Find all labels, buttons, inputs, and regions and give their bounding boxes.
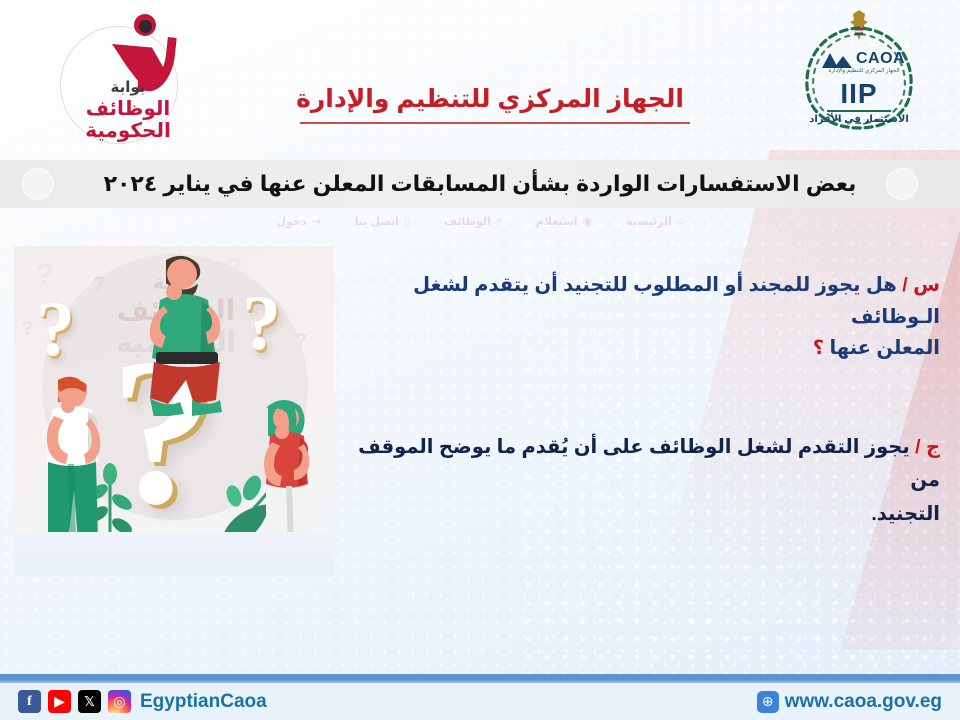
nav-watermark-label-jobs: الوظائف bbox=[444, 215, 491, 228]
answer-prefix: ج / bbox=[915, 436, 940, 458]
globe-icon: ⊕ bbox=[757, 691, 779, 713]
question-line-1: س / هل يجوز للمجند أو المطلوب للتجنيد أن… bbox=[330, 270, 940, 333]
iip-acronym: IIP bbox=[794, 78, 924, 110]
iip-arabic-subtitle: الاستثمار في الأفراد bbox=[794, 114, 924, 125]
page-title-underline bbox=[300, 122, 690, 124]
question-prefix: س / bbox=[902, 274, 940, 296]
caoa-arabic-subtitle: الجهاز المركزي للتنظيم والإدارة bbox=[814, 68, 914, 74]
white-question-mark-right: ? bbox=[242, 278, 281, 368]
website-url[interactable]: www.caoa.gov.eg bbox=[785, 691, 942, 713]
question-text-1: هل يجوز للمجند أو المطلوب للتجنيد أن يتق… bbox=[413, 274, 940, 328]
nav-watermark-item-home: ⌂ الرئيسية bbox=[626, 215, 683, 228]
facebook-icon[interactable]: f bbox=[18, 690, 41, 713]
question-line-2: المعلن عنها ؟ bbox=[330, 333, 940, 365]
nav-watermark-item-contact: ▯ اتصل بنا bbox=[355, 215, 410, 228]
footer-divider bbox=[0, 674, 960, 683]
answer-line-2: التجنيد. bbox=[330, 498, 940, 532]
banner: بعض الاستفسارات الواردة بشأن المسابقات ا… bbox=[0, 160, 960, 208]
info-icon: ◉ bbox=[583, 215, 593, 228]
person-thinking-left bbox=[28, 370, 116, 551]
person-sitting-on-question-mark bbox=[124, 248, 244, 421]
home-icon: ⌂ bbox=[677, 215, 684, 227]
question-mark-glyph: ؟ bbox=[813, 337, 824, 359]
decorative-question-mark: ? bbox=[22, 318, 33, 339]
decorative-question-mark: ? bbox=[92, 272, 105, 298]
decorative-question-mark: ? bbox=[296, 330, 307, 351]
banner-watermark-left bbox=[22, 168, 54, 200]
illustration-floor bbox=[14, 532, 334, 576]
pyramid-mountains-icon bbox=[820, 50, 854, 68]
login-icon: ⇥ bbox=[311, 215, 320, 228]
nav-watermark-label-login: دخول bbox=[276, 215, 306, 228]
search-icon: ⌕ bbox=[496, 215, 502, 228]
answer-block: ج / يجوز التقدم لشغل الوظائف على أن يُقد… bbox=[330, 431, 940, 532]
qa-section: س / هل يجوز للمجند أو المطلوب للتجنيد أن… bbox=[330, 270, 940, 531]
answer-text-1: يجوز التقدم لشغل الوظائف على أن يُقدم ما… bbox=[358, 436, 940, 492]
nav-watermark-label-contact: اتصل بنا bbox=[355, 215, 399, 228]
nav-watermark-item-jobs: ⌕ الوظائف bbox=[444, 215, 502, 228]
x-twitter-icon[interactable]: 𝕏 bbox=[78, 690, 101, 713]
iip-divider bbox=[827, 110, 891, 112]
nav-watermark-item-inquiry: ◉ استعلام bbox=[536, 215, 592, 228]
jobs-logo-line1: بوابة bbox=[38, 78, 218, 96]
social-links: f ▶ 𝕏 ◎ EgyptianCaoa bbox=[18, 690, 271, 713]
question-mark-illustration: بوابة الوظائف الحكومية ? ? ? ? ? ? ? ? ? bbox=[14, 246, 334, 576]
banner-title: بعض الاستفسارات الواردة بشأن المسابقات ا… bbox=[104, 171, 857, 197]
nav-watermark-label-inquiry: استعلام bbox=[536, 215, 578, 228]
poster-canvas: بوابة الوظائف الحكومية الجهاز المركزي لل… bbox=[0, 0, 960, 720]
header: بوابة الوظائف الحكومية الجهاز المركزي لل… bbox=[0, 0, 960, 148]
banner-watermark-right bbox=[886, 168, 918, 200]
nav-watermark-item-login: ⇥ دخول bbox=[276, 215, 320, 228]
nav-watermark-label-home: الرئيسية bbox=[626, 215, 672, 228]
caoa-emblem[interactable]: CAOA الجهاز المركزي للتنظيم والإدارة IIP… bbox=[794, 6, 924, 136]
social-handle[interactable]: EgyptianCaoa bbox=[140, 691, 267, 713]
running-person-logo-icon bbox=[90, 12, 168, 86]
page-title: الجهاز المركزي للتنظيم والإدارة bbox=[270, 84, 710, 114]
white-question-mark-left: ? bbox=[36, 284, 75, 374]
caoa-acronym: CAOA bbox=[856, 50, 916, 68]
footer: f ▶ 𝕏 ◎ EgyptianCaoa ⊕ www.caoa.gov.eg bbox=[0, 683, 960, 720]
website-link[interactable]: ⊕ www.caoa.gov.eg bbox=[757, 691, 942, 713]
instagram-icon[interactable]: ◎ bbox=[108, 690, 131, 713]
answer-text-2: التجنيد. bbox=[871, 503, 940, 525]
question-text-2: المعلن عنها bbox=[830, 337, 941, 359]
nav-watermark: ⌂ الرئيسية ◉ استعلام ⌕ الوظائف ▯ اتصل بن… bbox=[0, 208, 960, 234]
youtube-icon[interactable]: ▶ bbox=[48, 690, 71, 713]
jobs-logo-line3: الحكومية bbox=[38, 118, 218, 143]
answer-line-1: ج / يجوز التقدم لشغل الوظائف على أن يُقد… bbox=[330, 431, 940, 498]
question-block: س / هل يجوز للمجند أو المطلوب للتجنيد أن… bbox=[330, 270, 940, 365]
jobs-portal-logo[interactable]: بوابة الوظائف الحكومية bbox=[38, 8, 218, 140]
phone-icon: ▯ bbox=[404, 215, 410, 228]
